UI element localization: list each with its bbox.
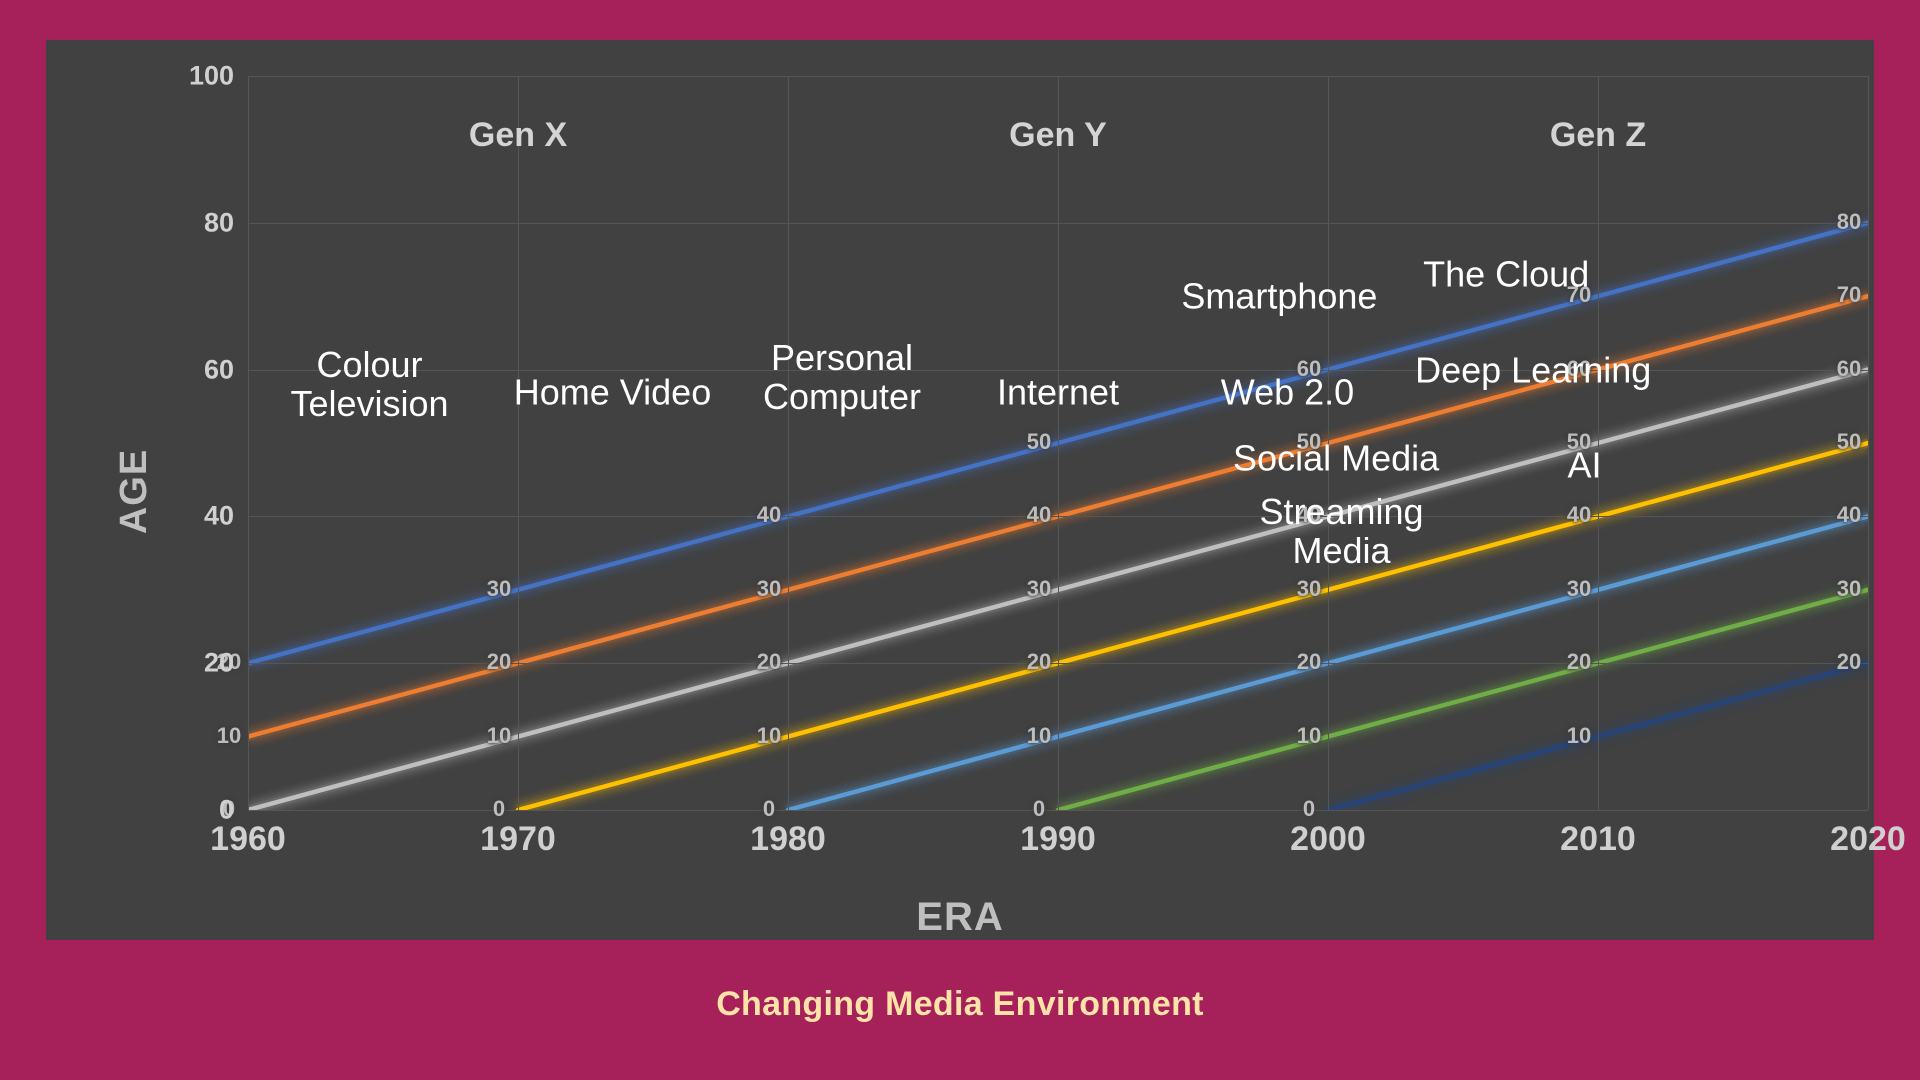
y-axis-tick-label: 60 [204,354,234,385]
gridline-vertical [1598,76,1599,810]
x-axis-tick-label: 1960 [210,820,286,859]
technology-annotation: Deep Learning [1415,350,1651,389]
data-point-label: 40 [757,502,781,528]
data-point-label: 10 [1297,723,1321,749]
data-point-label: 40 [1027,502,1051,528]
generation-band-label: Gen Z [1550,116,1646,155]
y-axis-title: AGE [113,449,156,534]
x-axis-tick-label: 1980 [750,820,826,859]
data-point-label: 20 [757,649,781,675]
x-axis-tick-label: 1970 [480,820,556,859]
x-axis-tick-label: 2000 [1290,820,1366,859]
technology-annotation: Social Media [1233,438,1439,477]
technology-annotation: Web 2.0 [1221,372,1354,411]
data-point-label: 20 [1297,649,1321,675]
y-axis-tick-label: 80 [204,207,234,238]
gridline-vertical [518,76,519,810]
technology-annotation: Colour Television [290,345,448,423]
data-point-label: 20 [1837,649,1861,675]
gridline-vertical [1058,76,1059,810]
data-point-label: 0 [493,796,505,822]
y-axis-tick-label: 40 [204,501,234,532]
gridline-vertical [248,76,249,810]
data-point-label: 20 [1027,649,1051,675]
data-point-label: 80 [1837,209,1861,235]
data-point-label: 10 [217,723,241,749]
technology-annotation: Internet [997,372,1119,411]
plot-area: Gen XGen YGen Z2030405060708010203040506… [248,76,1868,810]
technology-annotation: The Cloud [1423,255,1589,294]
data-point-label: 20 [1567,649,1591,675]
data-point-label: 50 [1837,429,1861,455]
gridline-horizontal [248,76,1868,77]
data-point-label: 70 [1837,282,1861,308]
data-point-label: 10 [757,723,781,749]
data-point-label: 30 [1027,576,1051,602]
technology-annotation: Streaming Media [1259,492,1423,570]
data-point-label: 10 [1567,723,1591,749]
gridline-vertical [788,76,789,810]
gridline-vertical [1868,76,1869,810]
slide-caption: Changing Media Environment [0,985,1920,1024]
chart-panel: AGE ERA Gen XGen YGen Z20304050607080102… [46,40,1874,940]
x-axis-tick-label: 2010 [1560,820,1636,859]
data-point-label: 20 [487,649,511,675]
data-point-label: 0 [763,796,775,822]
data-point-label: 30 [757,576,781,602]
data-point-label: 40 [1837,502,1861,528]
gridline-horizontal [248,810,1868,811]
generation-band-label: Gen X [469,116,567,155]
series-line[interactable] [518,443,1868,810]
data-point-label: 30 [1567,576,1591,602]
data-point-label: 30 [487,576,511,602]
data-point-label: 40 [1567,502,1591,528]
technology-annotation: Smartphone [1181,277,1377,316]
data-point-label: 60 [1837,356,1861,382]
x-axis-title: ERA [46,895,1874,940]
data-point-label: 0 [1033,796,1045,822]
y-axis-tick-label: 100 [189,61,234,92]
generation-band-label: Gen Y [1009,116,1107,155]
data-point-label: 30 [1297,576,1321,602]
gridline-horizontal [248,223,1868,224]
data-point-label: 10 [1027,723,1051,749]
slide: AGE ERA Gen XGen YGen Z20304050607080102… [0,0,1920,1080]
technology-annotation: Personal Computer [763,338,921,416]
technology-annotation: Home Video [514,372,711,411]
data-point-label: 30 [1837,576,1861,602]
gridline-horizontal [248,516,1868,517]
data-point-label: 0 [1303,796,1315,822]
y-axis-tick-label: 20 [204,648,234,679]
technology-annotation: AI [1567,446,1601,485]
x-axis-tick-label: 1990 [1020,820,1096,859]
data-point-label: 50 [1027,429,1051,455]
data-point-label: 10 [487,723,511,749]
x-axis-tick-label: 2020 [1830,820,1906,859]
